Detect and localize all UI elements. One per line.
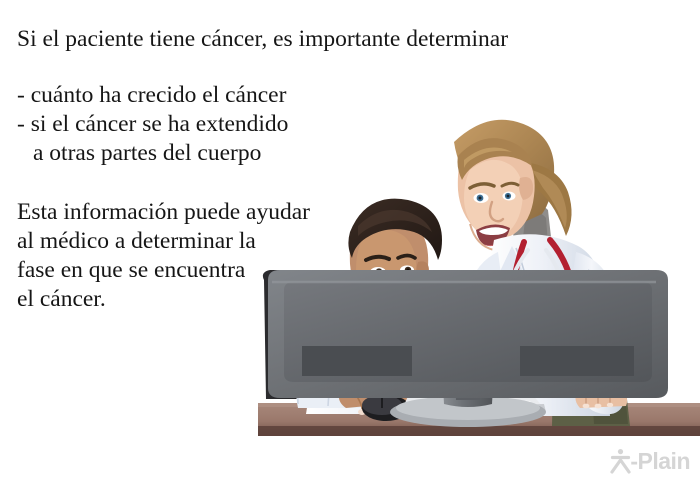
slide-canvas: Si el paciente tiene cáncer, es importan… — [0, 0, 700, 480]
paragraph: Esta información puede ayudar al médico … — [17, 198, 617, 314]
paragraph-line-4: el cáncer. — [17, 285, 617, 314]
bullet-marker-1: - — [17, 82, 25, 108]
bullet-item-2-continuation: a otras partes del cuerpo — [17, 139, 617, 168]
bullet-item-1: - cuánto ha crecido el cáncer — [17, 81, 617, 110]
logo-text: -Plain — [630, 450, 690, 473]
headline: Si el paciente tiene cáncer, es importan… — [17, 24, 617, 54]
bullet-marker-2: - — [17, 111, 25, 137]
bullet-text-1: cuánto ha crecido el cáncer — [31, 82, 287, 108]
paragraph-line-3: fase en que se encuentra — [17, 256, 617, 285]
paragraph-line-1: Esta información puede ayudar — [17, 198, 617, 227]
bullet-list: - cuánto ha crecido el cáncer - si el cá… — [17, 81, 617, 168]
x-plain-logo: -Plain — [608, 448, 690, 474]
bullet-item-2: - si el cáncer se ha extendido — [17, 110, 617, 139]
bullet-text-2: si el cáncer se ha extendido — [31, 111, 289, 137]
bullet-text-2-continuation: a otras partes del cuerpo — [33, 140, 261, 166]
paragraph-line-2: al médico a determinar la — [17, 227, 617, 256]
slide-text: Si el paciente tiene cáncer, es importan… — [17, 24, 617, 314]
